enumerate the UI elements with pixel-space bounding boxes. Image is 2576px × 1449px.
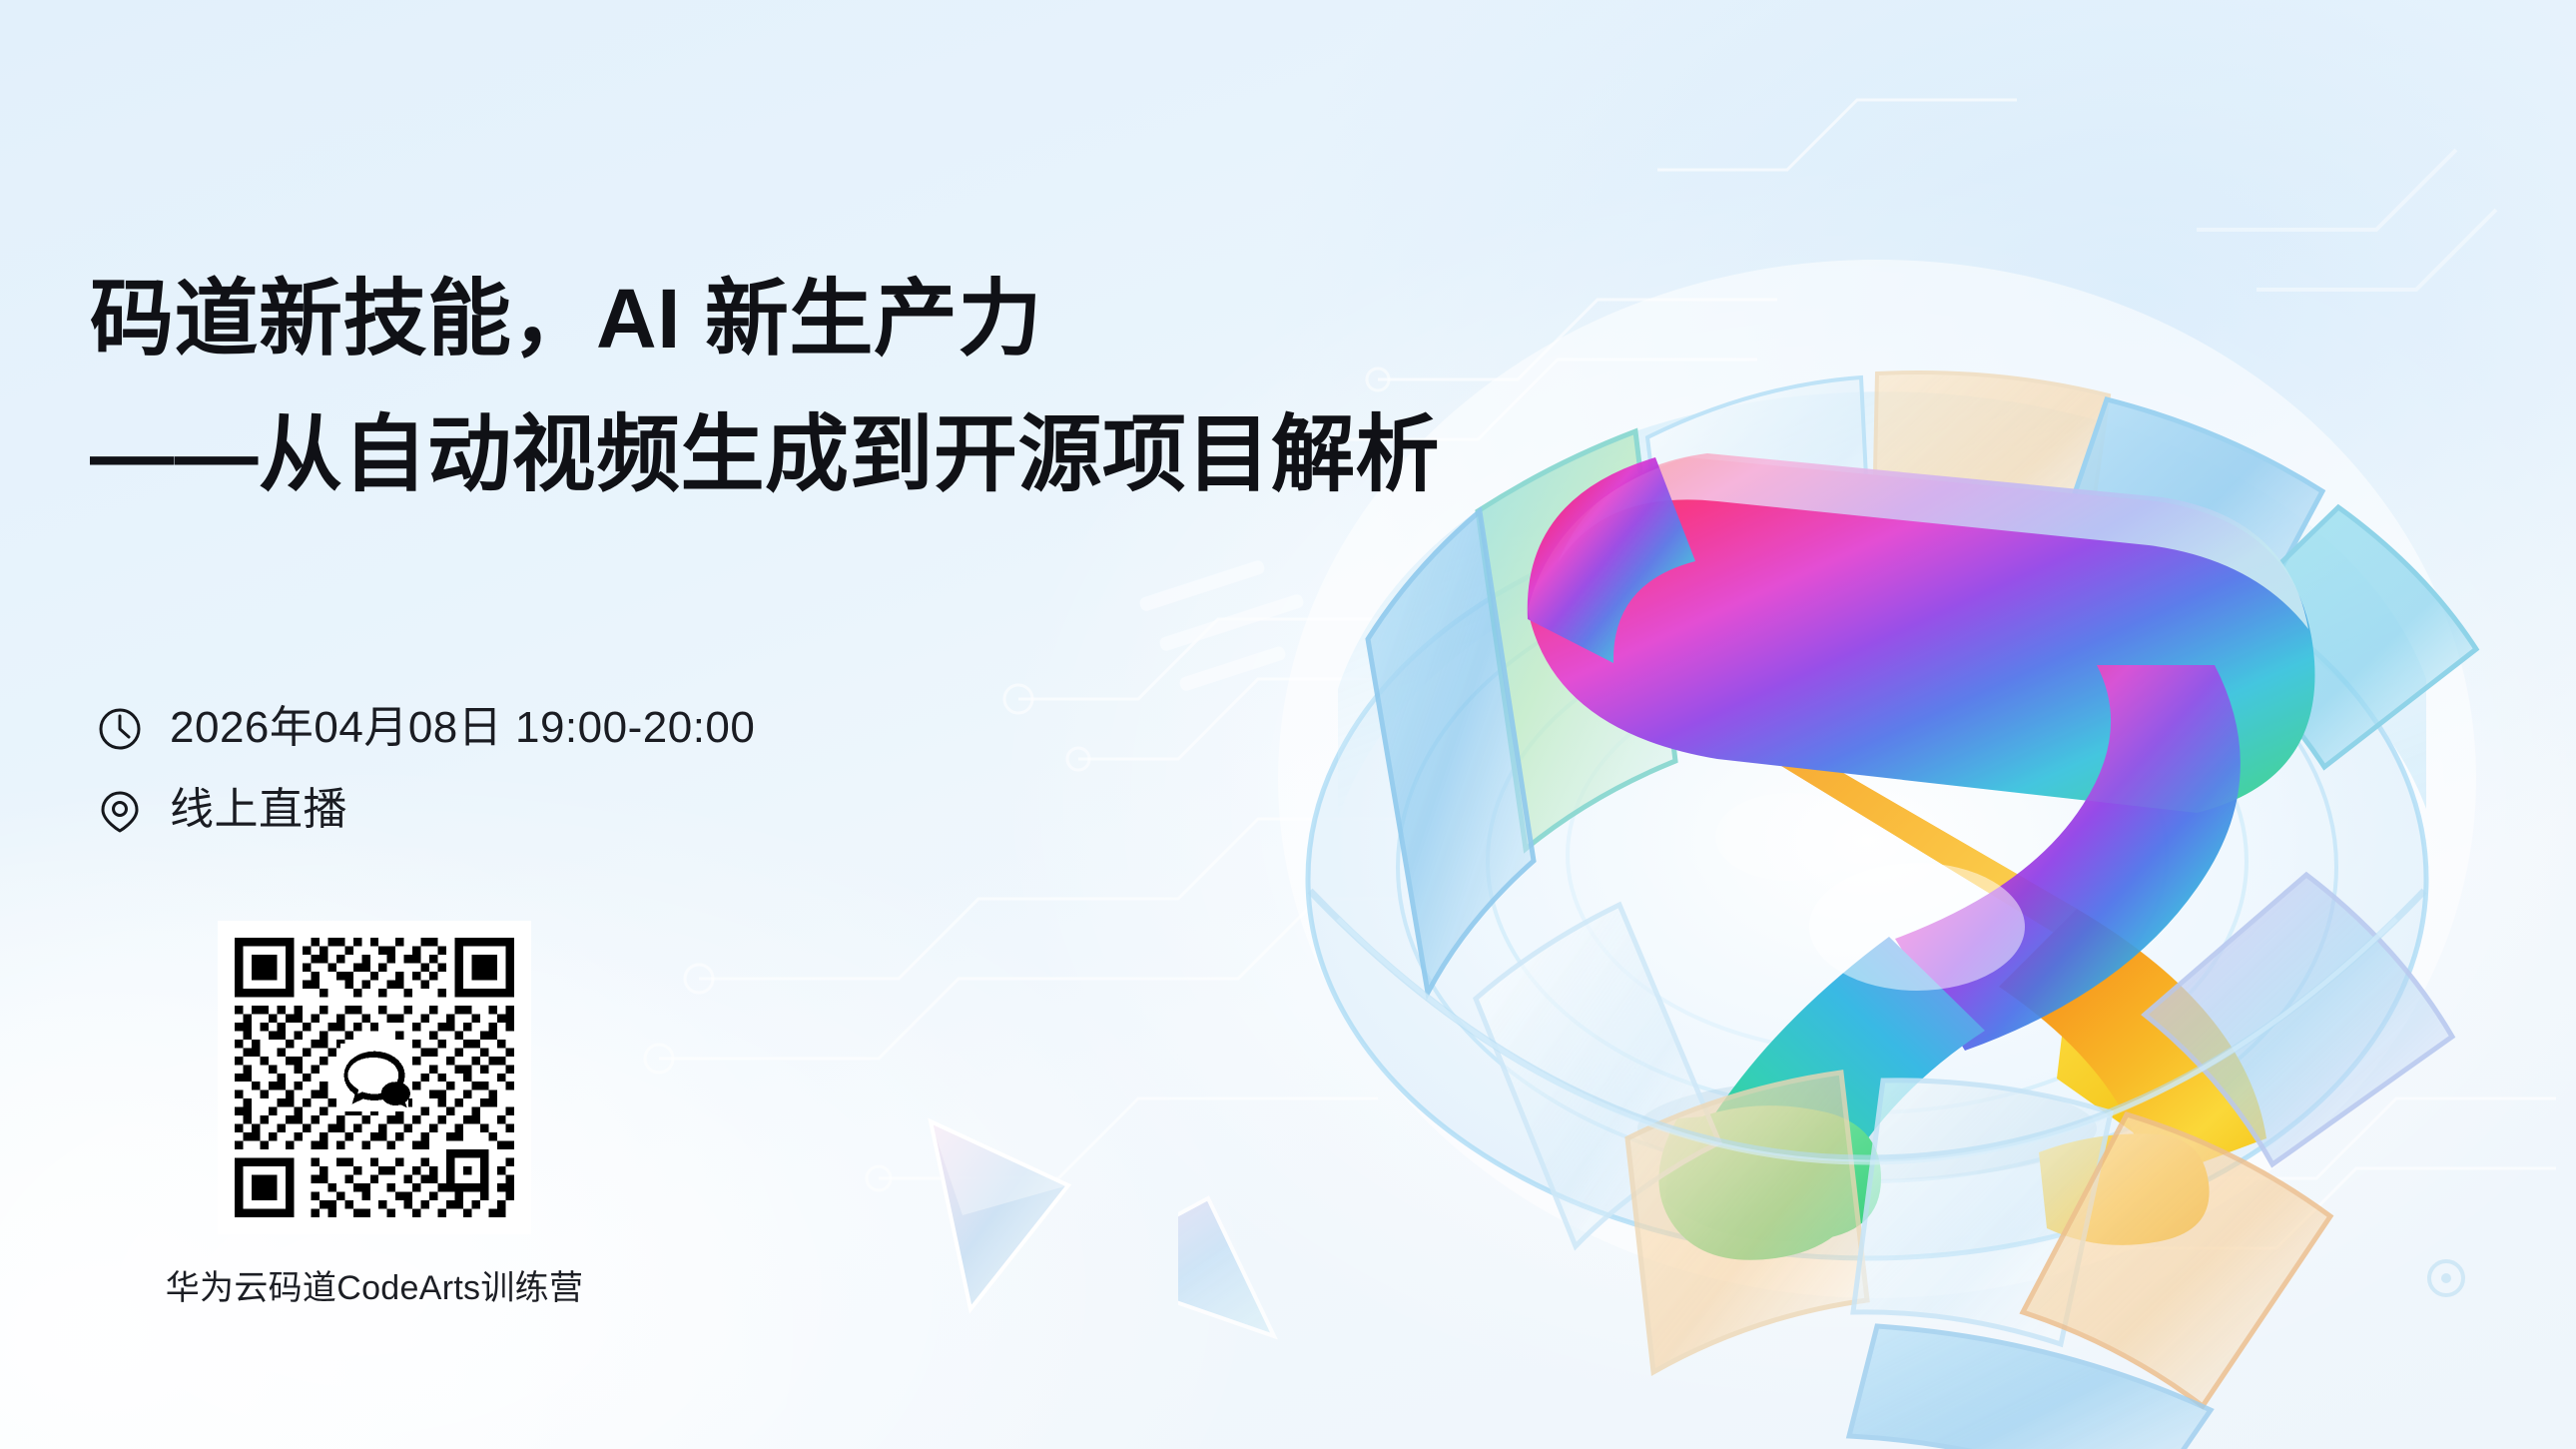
qr-code[interactable] <box>218 921 531 1234</box>
event-datetime-text: 2026年04月08日 19:00-20:00 <box>170 706 755 752</box>
qr-code-svg[interactable] <box>218 921 531 1234</box>
map-pin-icon <box>96 787 144 835</box>
prism-shard-secondary <box>919 1093 1138 1353</box>
headline-line-2: ——从自动视频生成到开源项目解析 <box>90 407 1488 501</box>
headline-line-1: 码道新技能，AI 新生产力 <box>90 272 1488 365</box>
ring-detail <box>2429 1261 2463 1295</box>
clock-icon <box>96 705 144 753</box>
qr-caption: 华为云码道CodeArts训练营 <box>140 1260 609 1309</box>
event-datetime-row: 2026年04月08日 19:00-20:00 <box>96 705 755 753</box>
headline-block: 码道新技能，AI 新生产力 ——从自动视频生成到开源项目解析 <box>90 272 1488 501</box>
event-location-text: 线上直播 <box>170 788 347 834</box>
qr-block: 华为云码道CodeArts训练营 <box>218 921 531 1309</box>
event-location-row: 线上直播 <box>96 787 755 835</box>
event-meta-block: 2026年04月08日 19:00-20:00 线上直播 <box>96 705 755 869</box>
prism-shard <box>1178 1198 1274 1336</box>
event-poster: 码道新技能，AI 新生产力 ——从自动视频生成到开源项目解析 2026年04月0… <box>0 0 2576 1449</box>
